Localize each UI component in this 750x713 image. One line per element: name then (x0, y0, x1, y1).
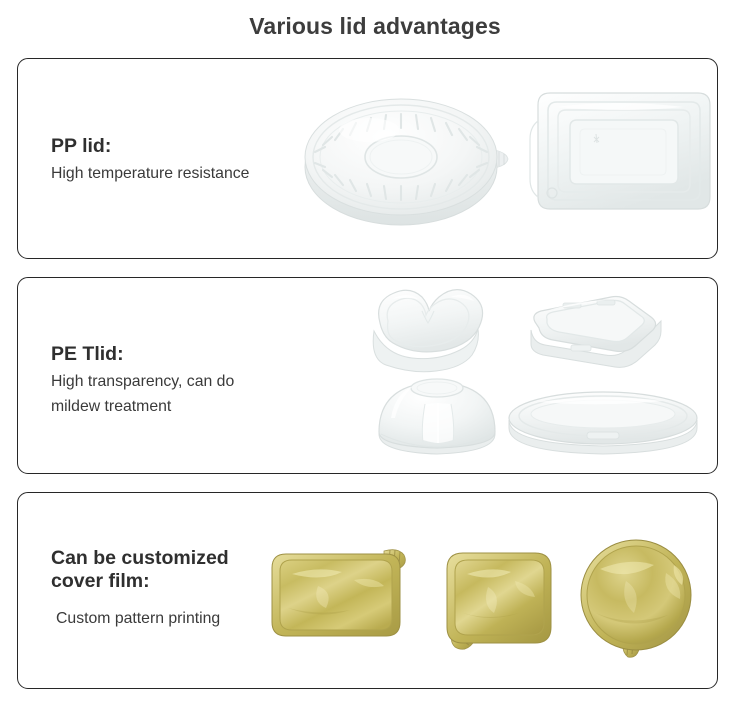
card-pp-lid: PP lid: High temperature resistance (17, 58, 718, 259)
pe-tlid-text-block: PE Tlid: High transparency, can do milde… (51, 343, 234, 419)
pp-lid-description: High temperature resistance (51, 162, 249, 186)
pp-lid-heading: PP lid: (51, 135, 249, 158)
square-domed-pe-lid (523, 288, 663, 378)
gold-round-foil-lid (570, 535, 710, 665)
cover-film-description: Custom pattern printing (51, 607, 229, 631)
cover-film-heading: Can be customized cover film: (51, 547, 229, 594)
card-pe-tlid: PE Tlid: High transparency, can do milde… (17, 277, 718, 474)
page-title: Various lid advantages (0, 13, 750, 40)
round-ribbed-pp-lid (301, 75, 531, 240)
cover-film-text-block: Can be customized cover film: Custom pat… (51, 547, 229, 631)
pp-lid-text-block: PP lid: High temperature resistance (51, 135, 249, 187)
lid-advantages-infographic: { "page": { "title": "Various lid advant… (0, 0, 750, 713)
round-dome-pe-lid (373, 378, 503, 458)
gold-rectangular-foil-lid (258, 538, 418, 648)
pe-tlid-description: High transparency, can do mildew treatme… (51, 370, 234, 419)
gold-square-foil-lid (433, 541, 568, 661)
card-customized-cover-film: Can be customized cover film: Custom pat… (17, 492, 718, 689)
heart-shaped-pe-lid (358, 283, 518, 378)
pe-tlid-heading: PE Tlid: (51, 343, 234, 366)
rectangular-pp-lid (516, 81, 718, 236)
oval-flat-pe-lid (503, 388, 703, 458)
